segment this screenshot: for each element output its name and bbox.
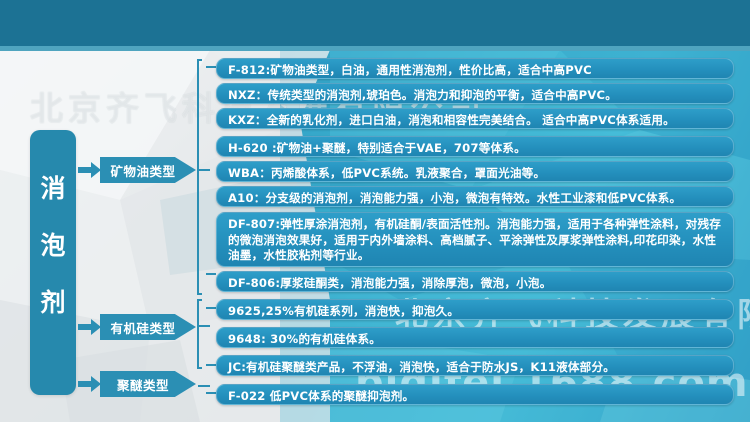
item-text: DF-806:厚浆硅酮类，消泡能力强，消除厚泡，微泡，小泡。 [228,276,552,290]
item-a10[interactable]: A10：分支级的消泡剂，消泡能力强，小泡，微泡有特效。水性工业漆和低PVC体系。 [216,186,734,207]
spine-char-2: 泡 [30,217,76,274]
item-f812[interactable]: F-812:矿物油类型，白油，通用性消泡剂，性价比高，适合中高PVC [216,58,734,79]
item-h620[interactable]: H-620 :矿物油+聚醚，特别适合于VAE，707等体系。 [216,136,734,157]
item-text: DF-807:弹性厚涂消泡剂，有机硅酮/表面活性剂。消泡能力强，适用于各种弹性涂… [228,217,721,262]
item-text: F-812:矿物油类型，白油，通用性消泡剂，性价比高，适合中高PVC [228,63,592,77]
arrow-to-category-1 [78,162,102,178]
item-text: H-620 :矿物油+聚醚，特别适合于VAE，707等体系。 [228,141,526,155]
item-text: F-022 低PVC体系的聚醚抑泡剂。 [228,389,414,403]
header-bar [0,0,750,46]
header-underline [0,46,750,51]
item-text: JC:有机硅聚醚类产品，不浮油，消泡快，适合于防水JS，K11液体部分。 [228,360,615,374]
arrow-to-category-2 [78,319,102,335]
item-text: 9648: 30%的有机硅体系。 [228,332,381,346]
item-text: A10：分支级的消泡剂，消泡能力强，小泡，微泡有特效。水性工业漆和低PVC体系。 [228,191,681,205]
category-label: 矿物油类型 [110,161,175,180]
item-f022[interactable]: F-022 低PVC体系的聚醚抑泡剂。 [216,384,734,405]
item-text: KXZ：全新的乳化剂，进口白油，消泡和相容性完美结合。 适合中高PVC体系适用。 [228,113,675,127]
item-jc[interactable]: JC:有机硅聚醚类产品，不浮油，消泡快，适合于防水JS，K11液体部分。 [216,355,734,376]
item-df806[interactable]: DF-806:厚浆硅酮类，消泡能力强，消除厚泡，微泡，小泡。 [216,271,734,292]
item-kxz[interactable]: KXZ：全新的乳化剂，进口白油，消泡和相容性完美结合。 适合中高PVC体系适用。 [216,108,734,129]
category-label: 有机硅类型 [110,318,175,337]
main-category-spine: 消 泡 剂 [30,130,76,395]
item-text: 9625,25%有机硅系列，消泡快，抑泡久。 [228,304,459,318]
item-text: WBA：丙烯酸体系，低PVC系统。乳液聚合，罩面光油等。 [228,166,545,180]
item-9625[interactable]: 9625,25%有机硅系列，消泡快，抑泡久。 [216,299,734,320]
spine-char-3: 剂 [30,274,76,331]
spine-label: 消 泡 剂 [30,160,76,331]
item-wba[interactable]: WBA：丙烯酸体系，低PVC系统。乳液聚合，罩面光油等。 [216,161,734,182]
category-label: 聚醚类型 [117,375,169,394]
slide-canvas: 北京齐飞科技发展有限公司 北京齐飞科技发展有限公司 bjqifei.1688.c… [0,0,750,422]
item-9648[interactable]: 9648: 30%的有机硅体系。 [216,327,734,348]
item-df807[interactable]: DF-807:弹性厚涂消泡剂，有机硅酮/表面活性剂。消泡能力强，适用于各种弹性涂… [216,212,734,267]
item-text: NXZ：传统类型的消泡剂,琥珀色。消泡力和抑泡的平衡，适合中高PVC。 [228,88,617,102]
arrow-to-category-3 [78,376,102,392]
spine-char-1: 消 [30,160,76,217]
item-nxz[interactable]: NXZ：传统类型的消泡剂,琥珀色。消泡力和抑泡的平衡，适合中高PVC。 [216,83,734,104]
